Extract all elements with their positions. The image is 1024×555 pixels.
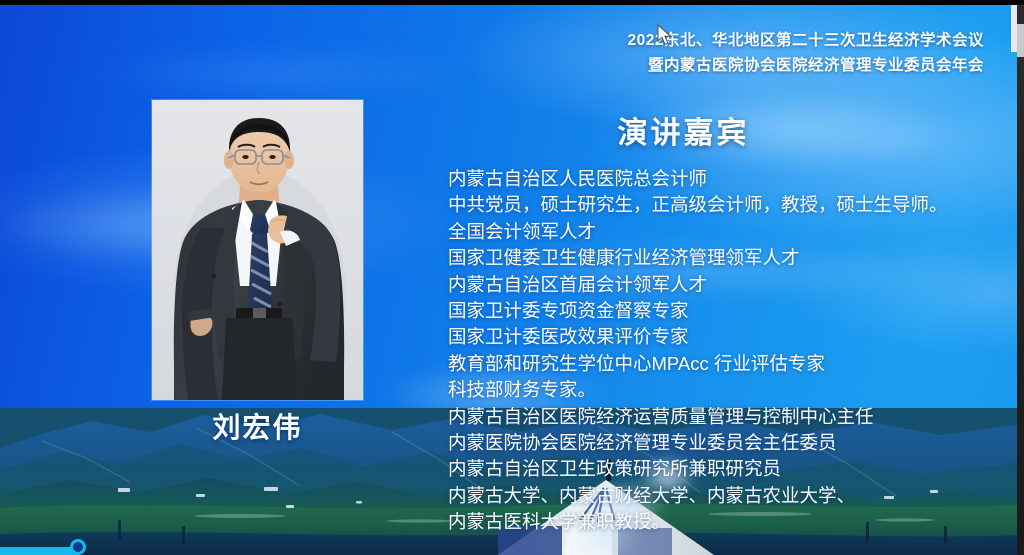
conference-title-line1: 2022东北、华北地区第二十三次卫生经济学术会议 xyxy=(628,28,984,53)
vertical-scrollbar[interactable] xyxy=(1017,0,1024,555)
scrollbar-thumb[interactable] xyxy=(1017,24,1024,57)
bio-line: 内蒙古医科大学兼职教授。 xyxy=(448,509,1014,535)
bio-line: 全国会计领军人才 xyxy=(448,219,1014,245)
video-progress-handle[interactable] xyxy=(70,539,86,555)
bio-line: 内蒙古自治区首届会计领军人才 xyxy=(448,272,1014,298)
speaker-bio-list: 内蒙古自治区人民医院总会计师 中共党员，硕士研究生，正高级会计师，教授，硕士生导… xyxy=(448,166,1014,536)
bio-line: 科技部财务专家。 xyxy=(448,377,1014,403)
conference-title: 2022东北、华北地区第二十三次卫生经济学术会议 暨内蒙古医院协会医院经济管理专… xyxy=(628,28,984,78)
speaker-portrait-svg xyxy=(152,100,363,400)
bio-line: 中共党员，硕士研究生，正高级会计师，教授，硕士生导师。 xyxy=(448,192,1014,218)
video-progress-bar[interactable] xyxy=(0,547,78,555)
bio-line: 内蒙古大学、内蒙古财经大学、内蒙古农业大学、 xyxy=(448,483,1014,509)
bio-line: 内蒙医院协会医院经济管理专业委员会主任委员 xyxy=(448,430,1014,456)
speaker-photo xyxy=(152,100,363,400)
bio-line: 教育部和研究生学位中心MPAcc 行业评估专家 xyxy=(448,351,1014,377)
conference-title-line2: 暨内蒙古医院协会医院经济管理专业委员会年会 xyxy=(628,53,984,78)
letterbox-strip xyxy=(0,0,1024,5)
speaker-name: 刘宏伟 xyxy=(152,406,363,446)
bio-line: 国家卫计委专项资金督察专家 xyxy=(448,298,1014,324)
presentation-slide: 2022东北、华北地区第二十三次卫生经济学术会议 暨内蒙古医院协会医院经济管理专… xyxy=(0,0,1024,555)
bio-line: 内蒙古自治区人民医院总会计师 xyxy=(448,166,1014,192)
speaker-info-panel: 演讲嘉宾 内蒙古自治区人民医院总会计师 中共党员，硕士研究生，正高级会计师，教授… xyxy=(448,108,1014,536)
bio-line: 内蒙古自治区医院经济运营质量管理与控制中心主任 xyxy=(448,404,1014,430)
bio-line: 国家卫健委卫生健康行业经济管理领军人才 xyxy=(448,245,1014,271)
bio-line: 内蒙古自治区卫生政策研究所兼职研究员 xyxy=(448,456,1014,482)
bio-line: 国家卫计委医改效果评价专家 xyxy=(448,324,1014,350)
section-title: 演讲嘉宾 xyxy=(448,108,1014,152)
